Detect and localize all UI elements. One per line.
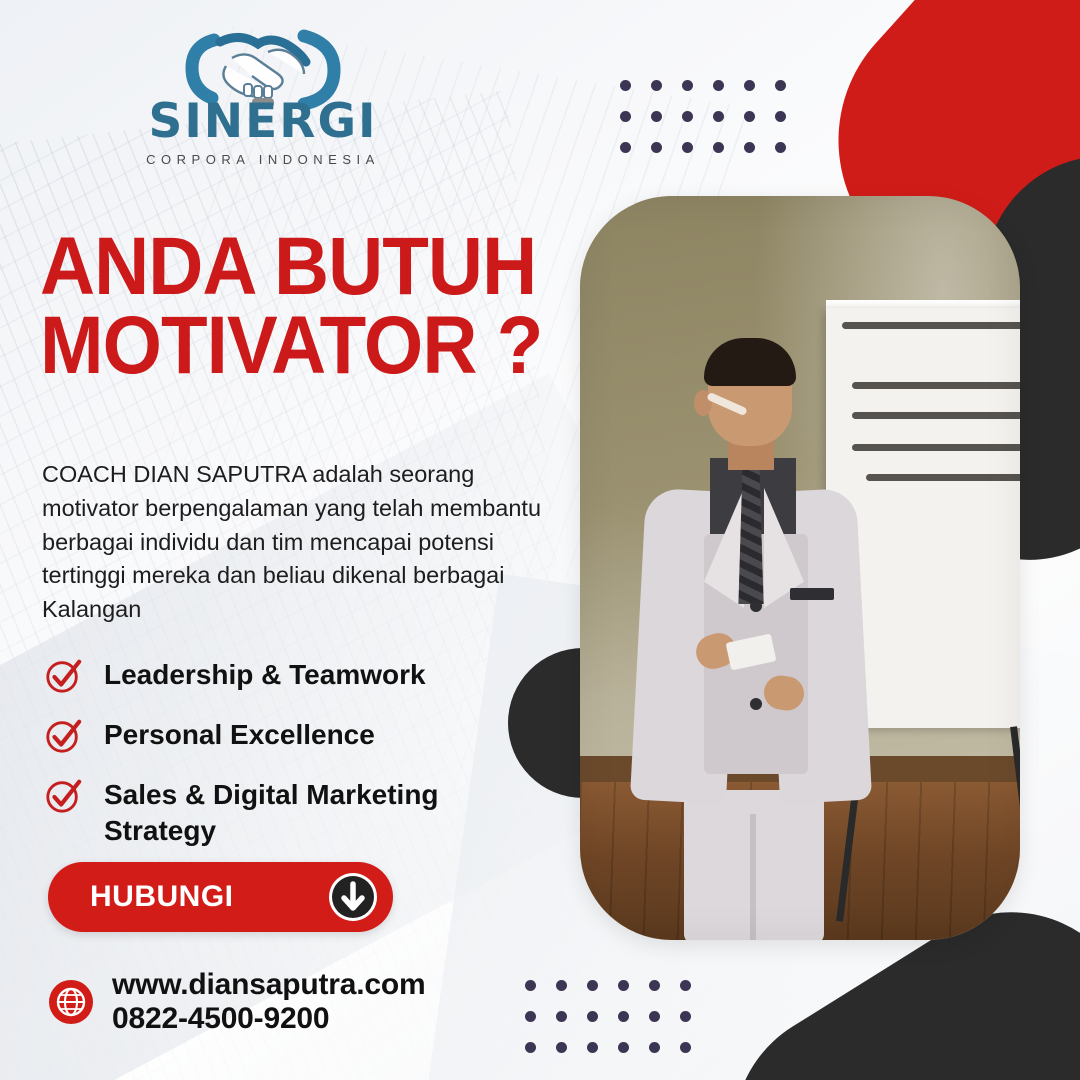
grid-dot <box>680 980 691 991</box>
grid-dot <box>744 80 755 91</box>
headline-line-1: ANDA BUTUH <box>40 228 561 307</box>
grid-dot <box>775 142 786 153</box>
grid-dot <box>713 111 724 122</box>
speaker-trouser-seam <box>750 814 756 940</box>
flipchart-line <box>852 412 1020 419</box>
grid-dot <box>651 80 662 91</box>
globe-icon <box>48 979 94 1025</box>
grid-dot <box>620 111 631 122</box>
flipchart-line <box>842 322 1020 329</box>
speaker-button <box>750 600 762 612</box>
grid-dot <box>618 980 629 991</box>
grid-dot <box>649 980 660 991</box>
list-item: Personal Excellence <box>44 715 544 755</box>
grid-dot <box>618 1042 629 1053</box>
grid-dot <box>682 111 693 122</box>
dot-grid-bottom <box>525 980 691 1053</box>
grid-dot <box>525 1042 536 1053</box>
grid-dot <box>620 142 631 153</box>
grid-dot <box>682 142 693 153</box>
list-item-label: Sales & Digital Marketing Strategy <box>104 775 544 850</box>
grid-dot <box>620 80 631 91</box>
grid-dot <box>587 980 598 991</box>
grid-dot <box>775 111 786 122</box>
grid-dot <box>649 1011 660 1022</box>
grid-dot <box>651 111 662 122</box>
contact-button-label: HUBUNGI <box>90 880 234 914</box>
speaker-photo <box>580 196 1020 940</box>
footer-text-block: www.diansaputra.com 0822-4500-9200 <box>112 968 426 1035</box>
arrow-down-circle-icon <box>327 871 379 923</box>
grid-dot <box>556 980 567 991</box>
contact-button[interactable]: HUBUNGI <box>48 862 393 932</box>
list-item: Leadership & Teamwork <box>44 655 544 695</box>
flipchart-line <box>852 444 1020 451</box>
speaker-button <box>750 698 762 710</box>
headline-line-2: MOTIVATOR ? <box>40 307 561 386</box>
grid-dot <box>744 111 755 122</box>
page-title: ANDA BUTUH MOTIVATOR ? <box>40 228 600 385</box>
speaker-hair <box>704 338 796 386</box>
grid-dot <box>556 1042 567 1053</box>
grid-dot <box>744 142 755 153</box>
speaker-pocket-square <box>790 588 834 600</box>
grid-dot <box>713 80 724 91</box>
check-circle-icon <box>44 657 82 695</box>
grid-dot <box>525 1011 536 1022</box>
logo-tagline: CORPORA INDONESIA <box>128 152 398 167</box>
check-circle-icon <box>44 717 82 755</box>
service-list: Leadership & Teamwork Personal Excellenc… <box>44 655 544 870</box>
list-item-label: Personal Excellence <box>104 715 375 753</box>
grid-dot <box>525 980 536 991</box>
grid-dot <box>713 142 724 153</box>
grid-dot <box>680 1011 691 1022</box>
grid-dot <box>651 142 662 153</box>
grid-dot <box>775 80 786 91</box>
grid-dot <box>587 1042 598 1053</box>
footer-contact: www.diansaputra.com 0822-4500-9200 <box>48 968 426 1035</box>
list-item: Sales & Digital Marketing Strategy <box>44 775 544 850</box>
website-link[interactable]: www.diansaputra.com <box>112 968 426 1002</box>
logo-wordmark: SINERGI <box>128 98 398 145</box>
list-item-label: Leadership & Teamwork <box>104 655 426 693</box>
check-circle-icon <box>44 777 82 815</box>
flipchart-line <box>866 474 1020 481</box>
speaker-figure <box>632 338 862 940</box>
phone-number[interactable]: 0822-4500-9200 <box>112 1002 426 1036</box>
grid-dot <box>649 1042 660 1053</box>
grid-dot <box>618 1011 629 1022</box>
dot-grid-top <box>620 80 786 153</box>
grid-dot <box>587 1011 598 1022</box>
brand-logo: SINERGI CORPORA INDONESIA <box>128 22 398 174</box>
flipchart-line <box>852 382 1020 389</box>
grid-dot <box>680 1042 691 1053</box>
body-paragraph: COACH DIAN SAPUTRA adalah seorang motiva… <box>42 458 562 627</box>
poster-canvas: SINERGI CORPORA INDONESIA ANDA BUTUH MOT… <box>0 0 1080 1080</box>
grid-dot <box>682 80 693 91</box>
grid-dot <box>556 1011 567 1022</box>
